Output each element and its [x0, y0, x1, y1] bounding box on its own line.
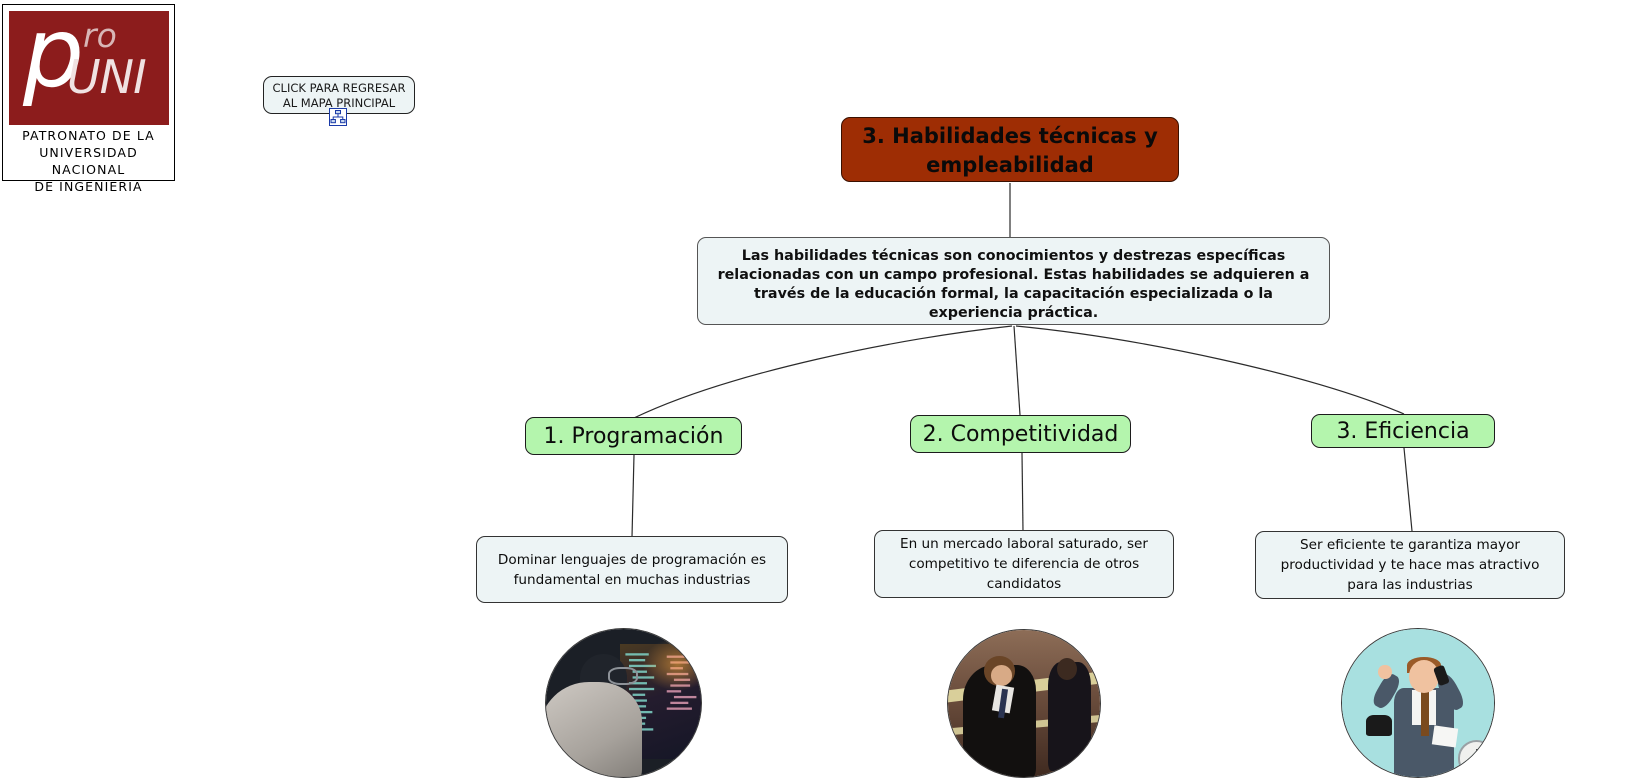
businessmen-racing-photo	[947, 629, 1101, 778]
logo-text-uni: UNI	[67, 54, 146, 100]
prouni-logo: p ro UNI PATRONATO DE LA UNIVERSIDAD NAC…	[2, 4, 175, 181]
node-branch-programacion[interactable]: 1. Programación	[525, 417, 742, 455]
logo-caption-line-2: UNIVERSIDAD NACIONAL	[3, 144, 174, 178]
mindmap-canvas: p ro UNI PATRONATO DE LA UNIVERSIDAD NAC…	[0, 0, 1630, 776]
node-branch-eficiencia[interactable]: 3. Eficiencia	[1311, 414, 1495, 448]
node-detail-programacion[interactable]: Dominar lenguajes de programación es fun…	[476, 536, 788, 603]
developer-coding-photo	[545, 628, 702, 778]
logo-text-ro: ro	[83, 19, 117, 52]
node-description[interactable]: Las habilidades técnicas son conocimient…	[697, 237, 1330, 325]
multitasking-businessman-illustration	[1341, 628, 1495, 778]
logo-mark: p ro UNI	[9, 11, 169, 125]
node-detail-eficiencia[interactable]: Ser eficiente te garantiza mayor product…	[1255, 531, 1565, 599]
logo-caption-line-3: DE INGENIERIA	[3, 178, 174, 195]
node-detail-competitividad[interactable]: En un mercado laboral saturado, ser comp…	[874, 530, 1174, 598]
logo-caption-line-1: PATRONATO DE LA	[3, 127, 174, 144]
node-branch-competitividad[interactable]: 2. Competitividad	[910, 415, 1131, 453]
return-button-line-1: CLICK PARA REGRESAR	[264, 81, 414, 96]
node-title-habilidades-tecnicas[interactable]: 3. Habilidades técnicas y empleabilidad	[841, 117, 1179, 182]
mindmap-icon[interactable]	[329, 108, 347, 126]
logo-caption: PATRONATO DE LA UNIVERSIDAD NACIONAL DE …	[3, 127, 174, 195]
